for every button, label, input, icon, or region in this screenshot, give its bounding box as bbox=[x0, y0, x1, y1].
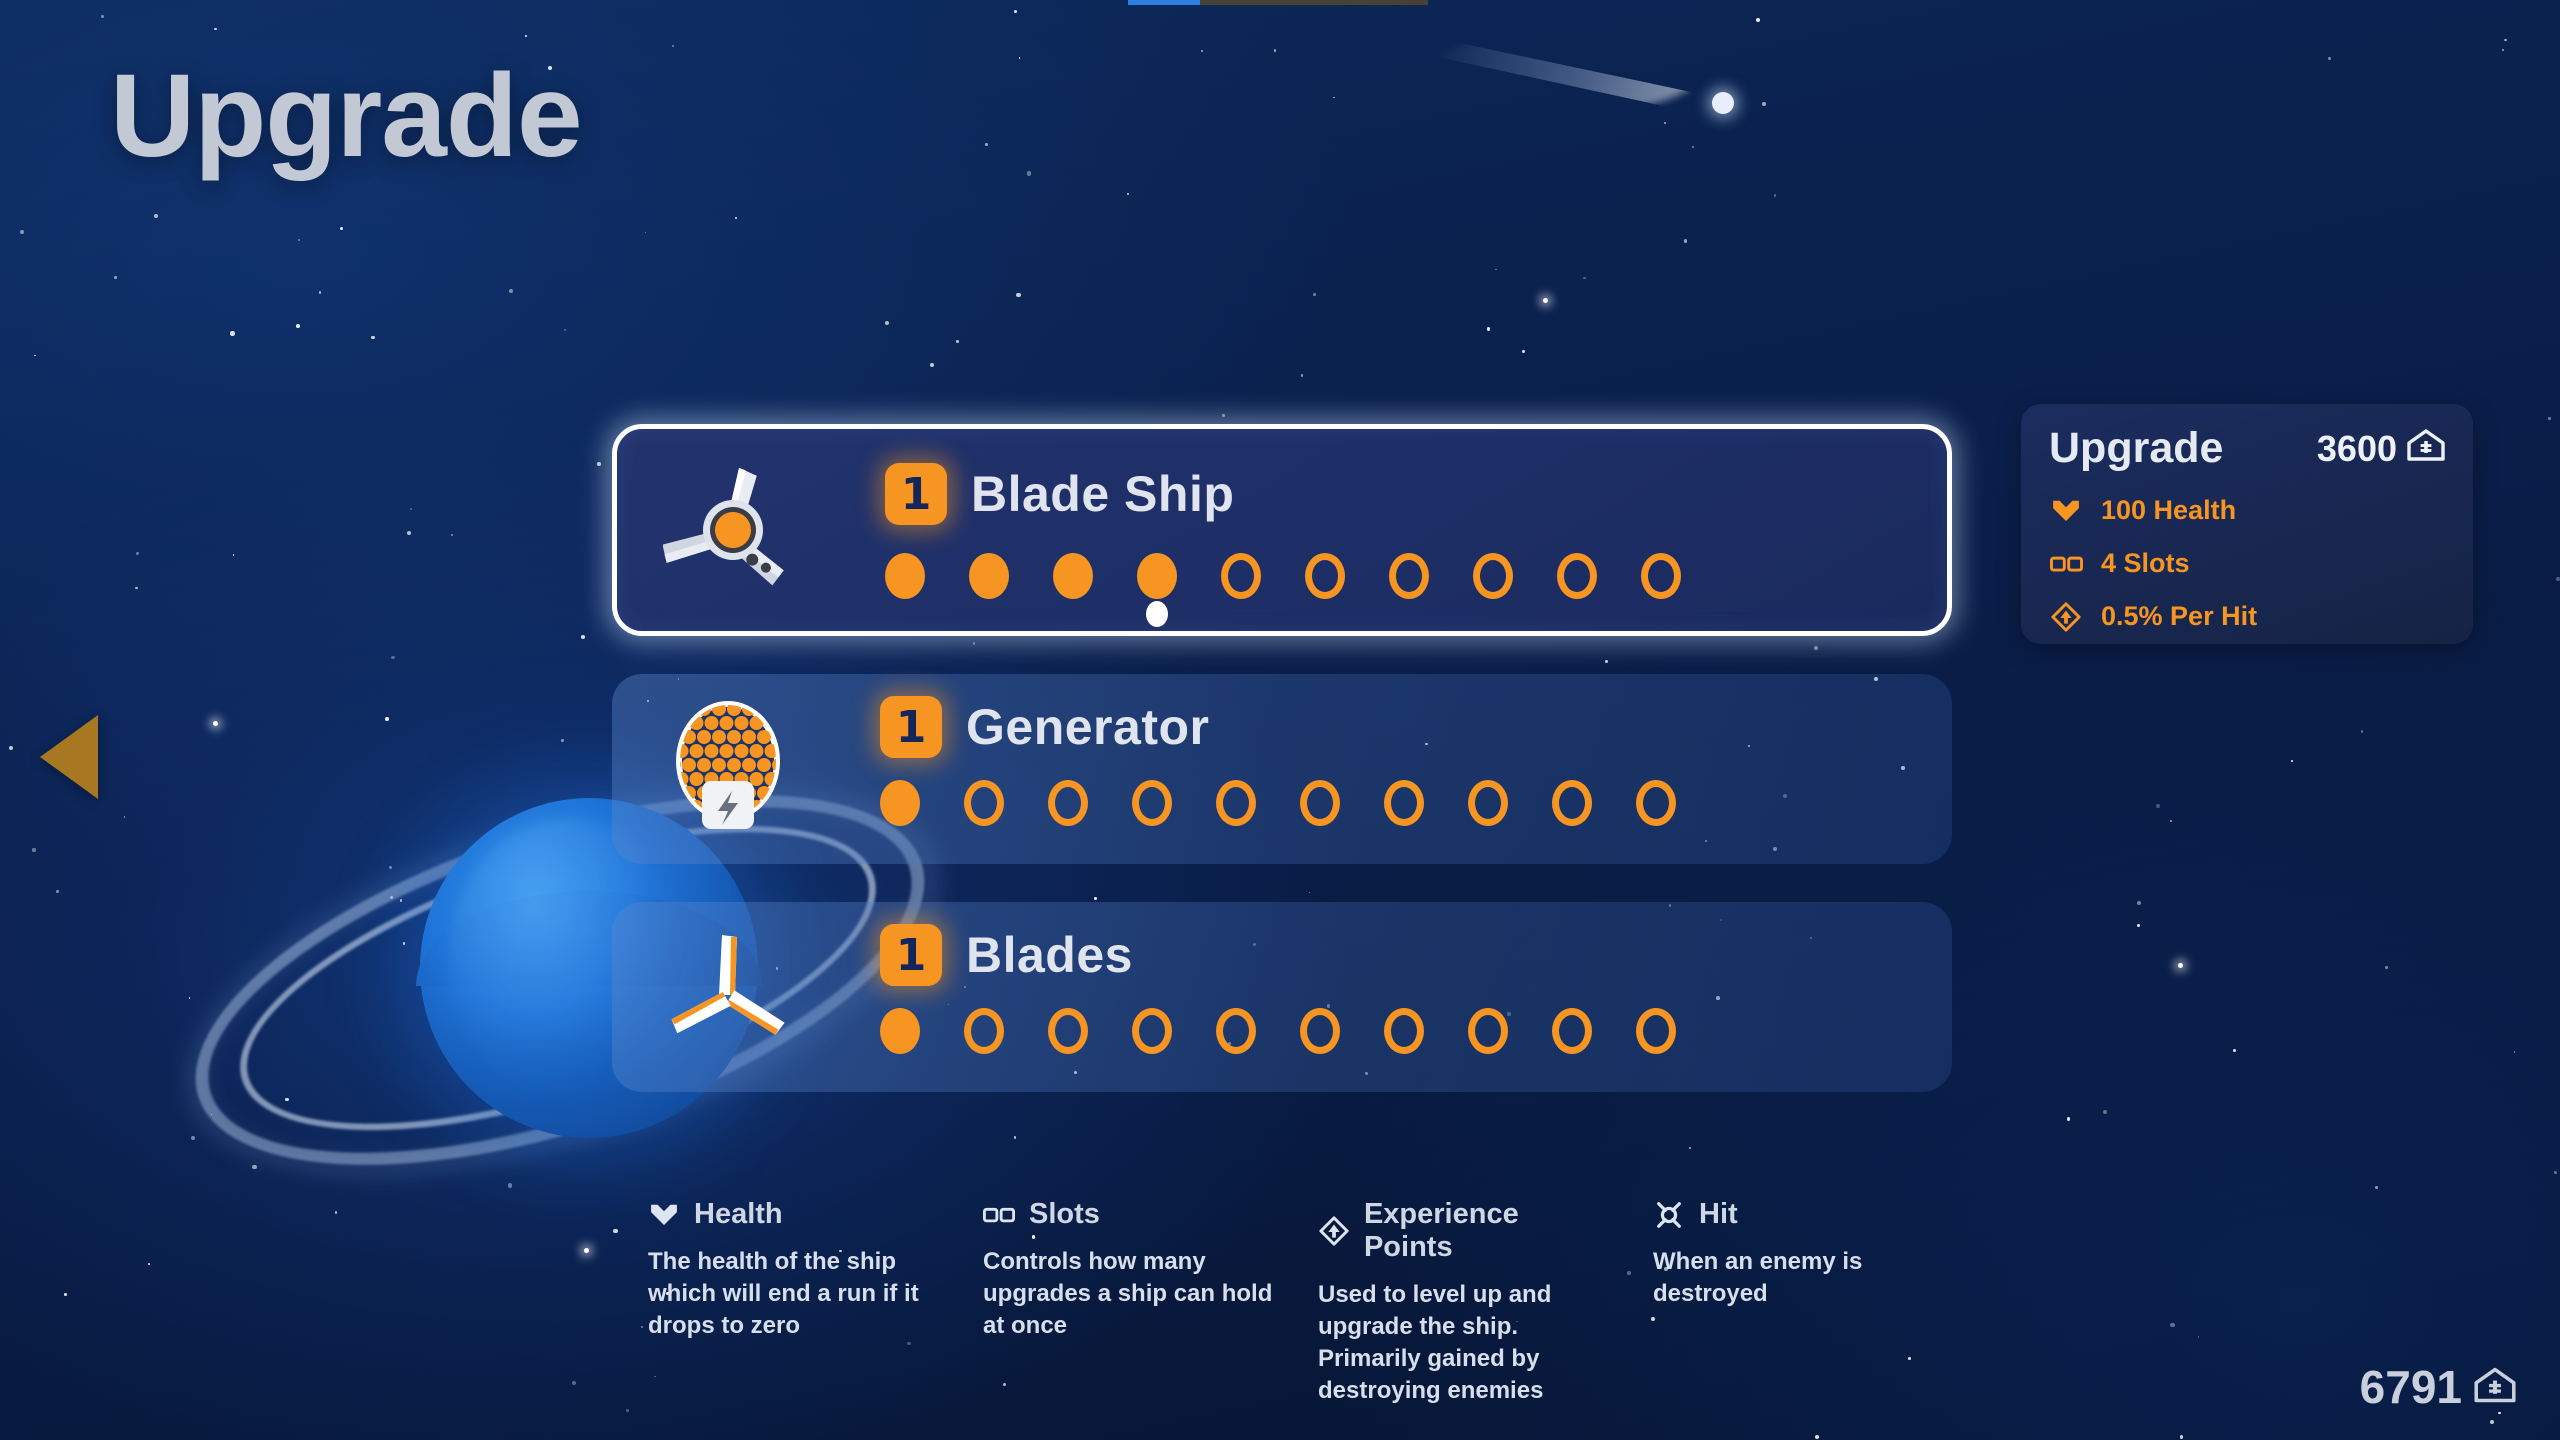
progress-dot[interactable] bbox=[964, 780, 1004, 826]
upgrade-cost: 3600 bbox=[2317, 428, 2445, 470]
progress-dot[interactable] bbox=[964, 1008, 1004, 1054]
level-badge: 1 bbox=[885, 463, 947, 525]
level-badge: 1 bbox=[880, 924, 942, 986]
progress-dots bbox=[880, 780, 1676, 826]
current-level-marker bbox=[1146, 601, 1168, 627]
legend-title: Health bbox=[694, 1198, 783, 1231]
upgrade-panel[interactable]: Upgrade 3600 100 Health4 Slots0.5% Per H… bbox=[2021, 404, 2473, 644]
comet-head-icon bbox=[1712, 92, 1734, 114]
xp-diamond-icon bbox=[2049, 602, 2083, 632]
progress-dot[interactable] bbox=[1552, 1008, 1592, 1054]
progress-dot[interactable] bbox=[1048, 780, 1088, 826]
upgrade-stat-row: 0.5% Per Hit bbox=[2049, 601, 2445, 632]
back-button[interactable] bbox=[40, 715, 98, 799]
legend-title: Hit bbox=[1699, 1198, 1738, 1231]
progress-dot[interactable] bbox=[1384, 780, 1424, 826]
progress-dot[interactable] bbox=[1552, 780, 1592, 826]
progress-dot[interactable] bbox=[880, 780, 920, 826]
progress-dot[interactable] bbox=[1468, 1008, 1508, 1054]
upgrade-cost-value: 3600 bbox=[2317, 428, 2397, 470]
progress-dot[interactable] bbox=[1557, 553, 1597, 599]
home-currency-icon bbox=[2474, 1360, 2516, 1414]
level-badge: 1 bbox=[880, 696, 942, 758]
legend-item-experience-points: Experience PointsUsed to level up and up… bbox=[1318, 1198, 1653, 1407]
legend-description: Used to level up and upgrade the ship. P… bbox=[1318, 1279, 1608, 1407]
top-progress-bar bbox=[1128, 0, 1428, 5]
upgrade-stat-label: 0.5% Per Hit bbox=[2101, 601, 2257, 632]
progress-dot[interactable] bbox=[1300, 780, 1340, 826]
legend-item-health: HealthThe health of the ship which will … bbox=[648, 1198, 983, 1407]
progress-dot[interactable] bbox=[880, 1008, 920, 1054]
upgrade-panel-header: Upgrade 3600 bbox=[2049, 424, 2445, 473]
upgrade-card-generator[interactable]: 1Generator bbox=[612, 674, 1952, 864]
legend-section: HealthThe health of the ship which will … bbox=[648, 1198, 1988, 1407]
legend-header: Experience Points bbox=[1318, 1198, 1615, 1264]
upgrade-stat-list: 100 Health4 Slots0.5% Per Hit bbox=[2049, 495, 2445, 632]
progress-dot[interactable] bbox=[1300, 1008, 1340, 1054]
upgrade-stat-label: 4 Slots bbox=[2101, 548, 2190, 579]
progress-dot[interactable] bbox=[1221, 553, 1261, 599]
card-header: 1Blades bbox=[880, 924, 1133, 986]
progress-dot[interactable] bbox=[1053, 553, 1093, 599]
home-currency-icon bbox=[2407, 428, 2445, 470]
card-header: 1Generator bbox=[880, 696, 1209, 758]
heart-icon bbox=[648, 1200, 680, 1230]
legend-header: Hit bbox=[1653, 1198, 1950, 1231]
generator-icon bbox=[658, 699, 798, 839]
heart-icon bbox=[2049, 496, 2083, 526]
progress-dot[interactable] bbox=[1132, 780, 1172, 826]
upgrade-stat-row: 4 Slots bbox=[2049, 548, 2445, 579]
top-progress-fill bbox=[1128, 0, 1200, 5]
legend-description: Controls how many upgrades a ship can ho… bbox=[983, 1246, 1273, 1342]
xp-diamond-icon bbox=[1318, 1216, 1350, 1246]
upgrade-card-list: 1Blade Ship1Generator1Blades bbox=[612, 424, 1952, 1130]
progress-dot[interactable] bbox=[1305, 553, 1345, 599]
progress-dot[interactable] bbox=[1636, 1008, 1676, 1054]
blade-ship-icon bbox=[663, 460, 803, 600]
legend-header: Slots bbox=[983, 1198, 1280, 1231]
upgrade-card-blades[interactable]: 1Blades bbox=[612, 902, 1952, 1092]
card-title: Blades bbox=[966, 926, 1133, 984]
progress-dot[interactable] bbox=[1137, 553, 1177, 599]
progress-dot[interactable] bbox=[1384, 1008, 1424, 1054]
upgrade-card-blade-ship[interactable]: 1Blade Ship bbox=[612, 424, 1952, 636]
legend-header: Health bbox=[648, 1198, 945, 1231]
hit-icon bbox=[1653, 1200, 1685, 1230]
progress-dot[interactable] bbox=[1468, 780, 1508, 826]
card-header: 1Blade Ship bbox=[885, 463, 1234, 525]
progress-dot[interactable] bbox=[1389, 553, 1429, 599]
progress-dot[interactable] bbox=[1216, 780, 1256, 826]
card-title: Generator bbox=[966, 698, 1209, 756]
legend-item-hit: HitWhen an enemy is destroyed bbox=[1653, 1198, 1988, 1407]
currency-display: 6791 bbox=[2360, 1360, 2516, 1414]
progress-dot[interactable] bbox=[969, 553, 1009, 599]
progress-dot[interactable] bbox=[1216, 1008, 1256, 1054]
slots-icon bbox=[2049, 549, 2083, 579]
card-title: Blade Ship bbox=[971, 465, 1234, 523]
progress-dot[interactable] bbox=[1132, 1008, 1172, 1054]
page-title: Upgrade bbox=[110, 48, 582, 184]
progress-dot[interactable] bbox=[1636, 780, 1676, 826]
blades-icon bbox=[658, 927, 798, 1067]
legend-item-slots: SlotsControls how many upgrades a ship c… bbox=[983, 1198, 1318, 1407]
legend-title: Slots bbox=[1029, 1198, 1100, 1231]
upgrade-stat-label: 100 Health bbox=[2101, 495, 2236, 526]
progress-dot[interactable] bbox=[1641, 553, 1681, 599]
legend-description: The health of the ship which will end a … bbox=[648, 1246, 938, 1342]
legend-description: When an enemy is destroyed bbox=[1653, 1246, 1943, 1310]
upgrade-panel-title: Upgrade bbox=[2049, 424, 2223, 473]
currency-amount: 6791 bbox=[2360, 1360, 2462, 1414]
upgrade-stat-row: 100 Health bbox=[2049, 495, 2445, 526]
slots-icon bbox=[983, 1200, 1015, 1230]
progress-dot[interactable] bbox=[885, 553, 925, 599]
progress-dot[interactable] bbox=[1473, 553, 1513, 599]
progress-dots bbox=[885, 553, 1681, 599]
legend-title: Experience Points bbox=[1364, 1198, 1615, 1264]
progress-dots bbox=[880, 1008, 1676, 1054]
progress-dot[interactable] bbox=[1048, 1008, 1088, 1054]
